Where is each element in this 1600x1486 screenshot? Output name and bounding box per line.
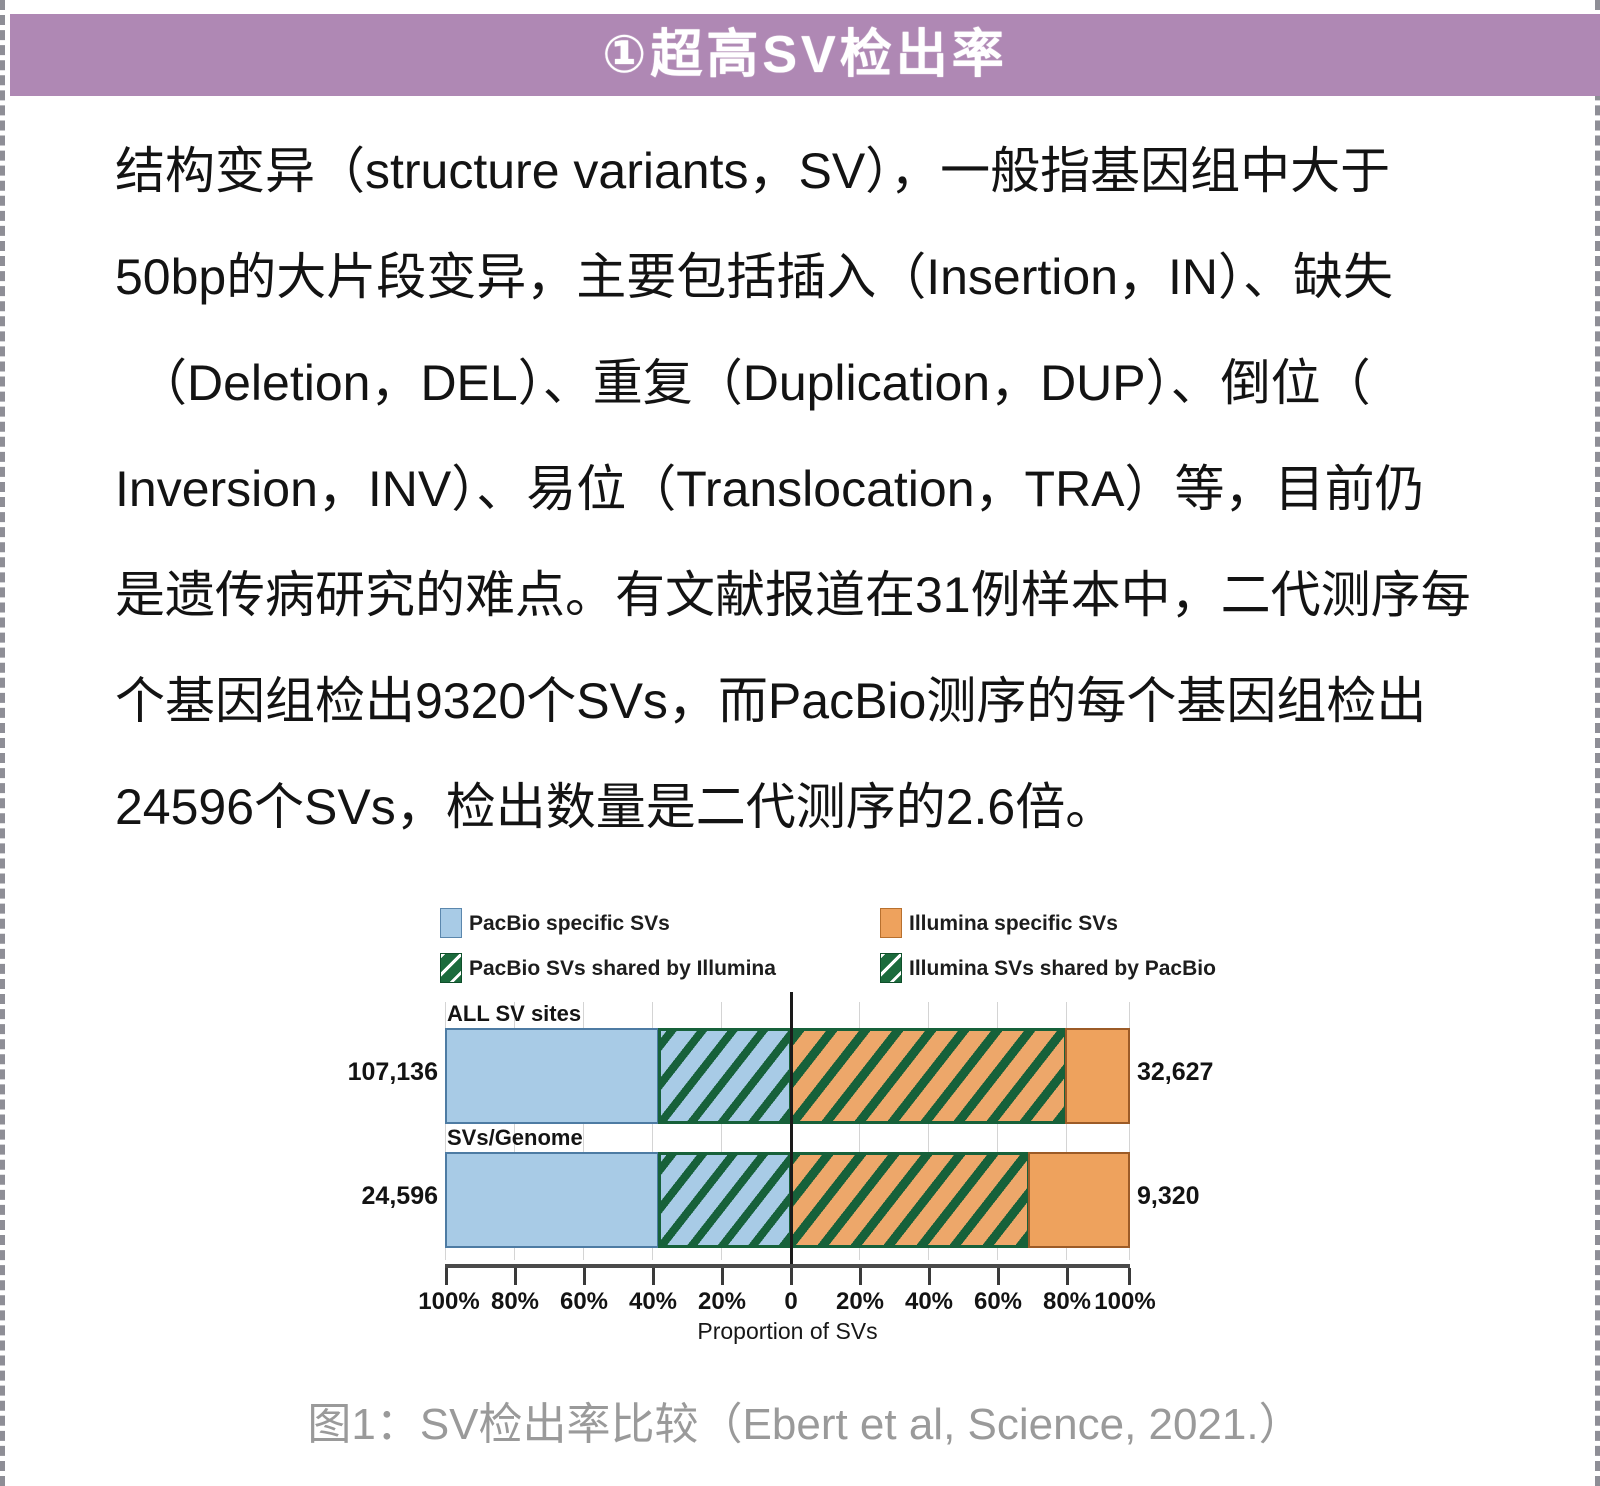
axis-tick-label: 40% — [905, 1288, 953, 1316]
bar-value-left: 24,596 — [362, 1182, 438, 1211]
segment-pacbio-shared — [658, 1152, 792, 1248]
axis-tick — [859, 1268, 862, 1285]
axis-tick-label: 80% — [491, 1288, 539, 1316]
segment-pacbio-shared — [658, 1028, 792, 1124]
legend-label: PacBio specific SVs — [469, 913, 670, 934]
table-row: 107,136 32,627 — [445, 1028, 1130, 1124]
poster-page: ①超高SV检出率 结构变异（structure variants，SV），一般指… — [0, 0, 1600, 1486]
axis-tick-label: 0 — [784, 1288, 797, 1316]
axis-tick — [1066, 1268, 1069, 1285]
article-body: 结构变异（structure variants，SV），一般指基因组中大于 50… — [115, 118, 1515, 860]
axis-tick — [721, 1268, 724, 1285]
paragraph-line: 结构变异（structure variants，SV），一般指基因组中大于 — [115, 118, 1515, 224]
segment-illumina-specific — [1028, 1152, 1130, 1248]
axis-tick-label: 80% — [1043, 1288, 1091, 1316]
segment-pacbio-specific — [445, 1152, 659, 1248]
axis-tick-label: 60% — [560, 1288, 608, 1316]
legend-swatch-icon — [880, 908, 902, 938]
paragraph-line: （Deletion，DEL）、重复（Duplication，DUP）、倒位（ — [115, 330, 1515, 436]
chart-legend: PacBio specific SVs PacBio SVs shared by… — [440, 908, 1220, 996]
bar-category-label: SVs/Genome — [447, 1125, 583, 1151]
segment-illumina-shared — [790, 1028, 1067, 1124]
axis-tick — [1128, 1268, 1131, 1285]
legend-item-pacbio-specific: PacBio specific SVs — [440, 908, 670, 938]
x-axis: 100% 80% 60% 40% 20% 0 20% 40% 60% 80% 1… — [445, 1264, 1130, 1268]
paragraph-line: 24596个SVs，检出数量是二代测序的2.6倍。 — [115, 754, 1515, 860]
axis-tick — [583, 1268, 586, 1285]
chart-plot-area: ALL SV sites 107,136 32,627 SVs/Genome 2… — [445, 1002, 1130, 1262]
segment-illumina-shared — [790, 1152, 1030, 1248]
axis-tick-label: 20% — [836, 1288, 884, 1316]
figure-sv-detection-chart: PacBio specific SVs PacBio SVs shared by… — [335, 880, 1235, 1380]
axis-tick — [652, 1268, 655, 1285]
header-banner: ①超高SV检出率 — [10, 14, 1600, 96]
paragraph-line: Inversion，INV）、易位（Translocation，TRA）等，目前… — [115, 436, 1515, 542]
zero-axis-line — [790, 992, 793, 1264]
axis-tick — [928, 1268, 931, 1285]
bar-category-label: ALL SV sites — [447, 1001, 581, 1027]
legend-label: PacBio SVs shared by Illumina — [469, 958, 776, 979]
paragraph-line: 是遗传病研究的难点。有文献报道在31例样本中，二代测序每 — [115, 542, 1515, 648]
legend-swatch-hatch-icon — [440, 953, 462, 983]
paragraph-line: 50bp的大片段变异，主要包括插入（Insertion，IN）、缺失 — [115, 224, 1515, 330]
legend-swatch-icon — [440, 908, 462, 938]
axis-tick — [514, 1268, 517, 1285]
figure-caption: 图1：SV检出率比较（Ebert et al, Science, 2021.） — [5, 1388, 1600, 1452]
segment-pacbio-specific — [445, 1028, 659, 1124]
legend-label: Illumina specific SVs — [909, 913, 1118, 934]
bar-value-right: 9,320 — [1137, 1182, 1200, 1211]
bar-value-left: 107,136 — [348, 1058, 438, 1087]
axis-tick-label: 40% — [629, 1288, 677, 1316]
x-axis-title: Proportion of SVs — [445, 1318, 1130, 1345]
axis-tick-label: 20% — [698, 1288, 746, 1316]
bar-value-right: 32,627 — [1137, 1058, 1213, 1087]
legend-item-illumina-specific: Illumina specific SVs — [880, 908, 1118, 938]
axis-tick — [997, 1268, 1000, 1285]
legend-label: Illumina SVs shared by PacBio — [909, 958, 1216, 979]
legend-item-pacbio-shared: PacBio SVs shared by Illumina — [440, 953, 776, 983]
table-row: 24,596 9,320 — [445, 1152, 1130, 1248]
axis-tick — [445, 1268, 448, 1285]
legend-swatch-hatch-icon — [880, 953, 902, 983]
legend-item-illumina-shared: Illumina SVs shared by PacBio — [880, 953, 1216, 983]
segment-illumina-specific — [1065, 1028, 1130, 1124]
paragraph-line: 个基因组检出9320个SVs，而PacBio测序的每个基因组检出 — [115, 648, 1515, 754]
axis-tick-label: 60% — [974, 1288, 1022, 1316]
axis-tick-label: 100% — [1094, 1288, 1155, 1316]
axis-tick — [790, 1268, 793, 1285]
page-title: ①超高SV检出率 — [602, 29, 1007, 81]
axis-tick-label: 100% — [418, 1288, 479, 1316]
